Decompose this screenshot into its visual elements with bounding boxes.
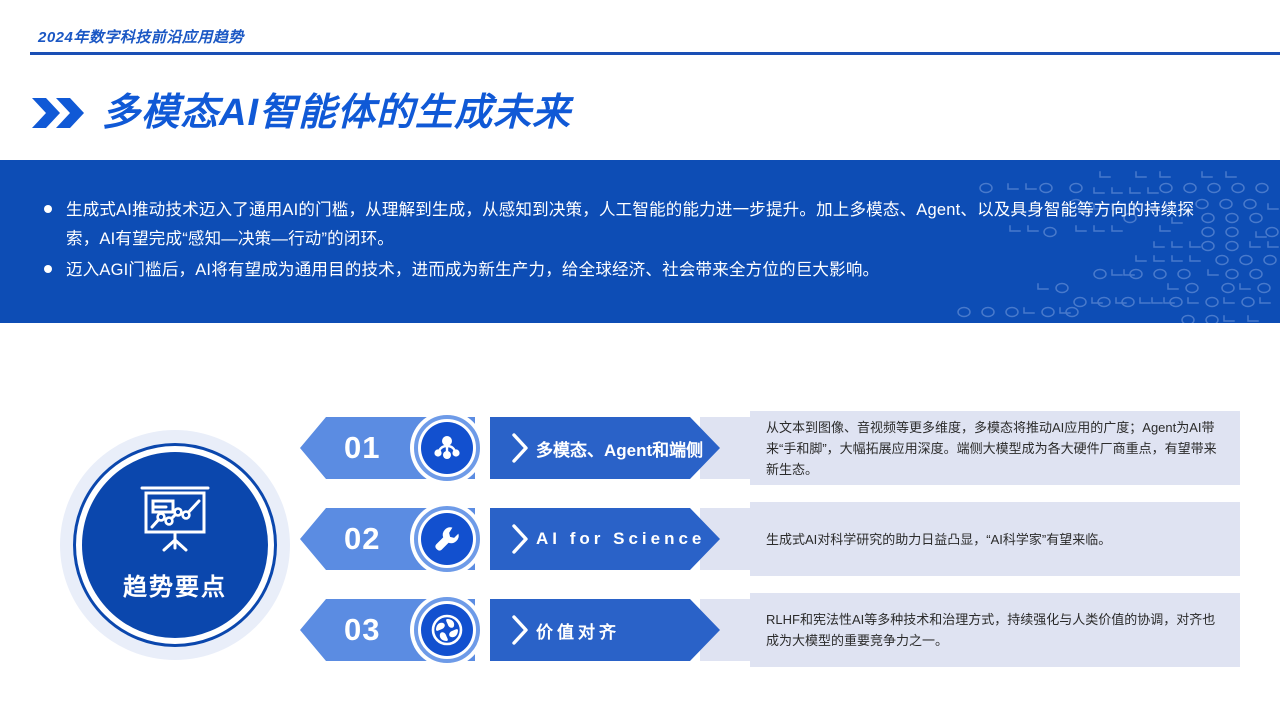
page-title: 多模态AI智能体的生成未来	[102, 94, 571, 132]
row-number: 02	[344, 521, 380, 557]
row-icon-badge[interactable]	[410, 502, 484, 576]
trend-row: 03 价值对齐 RLHF和宪法性AI等多种技术和治理方式，持续强化与人类价值的协…	[300, 593, 1240, 667]
row-number: 01	[344, 430, 380, 466]
banner-bullet-text: 迈入AGI门槛后，AI将有望成为通用目的技术，进而成为新生产力，给全球经济、社会…	[66, 256, 879, 285]
row-description: 从文本到图像、音视频等更多维度，多模态将推动AI应用的广度；Agent为AI带来…	[750, 417, 1240, 480]
trend-row: 02 AI for Science 生成式AI对科学研究的助力日益凸显，“AI科…	[300, 502, 1240, 576]
row-title-chevron[interactable]: 多模态、Agent和端侧	[490, 417, 720, 479]
row-title: 价值对齐	[536, 618, 620, 643]
icon-badge-core	[421, 513, 473, 565]
row-icon-badge[interactable]	[410, 411, 484, 485]
network-nodes-icon	[431, 432, 463, 464]
row-icon-badge[interactable]	[410, 593, 484, 667]
banner-bullet-text: 生成式AI推动技术迈入了通用AI的门槛，从理解到生成，从感知到决策，人工智能的能…	[66, 196, 1201, 254]
badge-label: 趋势要点	[123, 567, 227, 602]
row-description: RLHF和宪法性AI等多种技术和治理方式，持续强化与人类价值的协调，对齐也成为大…	[750, 609, 1240, 651]
chevron-right-icon	[512, 524, 528, 554]
row-description-panel: 生成式AI对科学研究的助力日益凸显，“AI科学家”有望来临。	[750, 502, 1240, 576]
bullet-icon	[44, 265, 52, 273]
page-title-row: 多模态AI智能体的生成未来	[30, 85, 571, 140]
badge-core: 趋势要点	[82, 452, 268, 638]
icon-badge-core	[421, 604, 473, 656]
presentation-chart-icon	[136, 482, 214, 559]
icon-badge-core	[421, 422, 473, 474]
row-description-panel: RLHF和宪法性AI等多种技术和治理方式，持续强化与人类价值的协调，对齐也成为大…	[750, 593, 1240, 667]
trend-row: 01 多模态、Agent和端侧	[300, 411, 1240, 485]
row-description-panel: 从文本到图像、音视频等更多维度，多模态将推动AI应用的广度；Agent为AI带来…	[750, 411, 1240, 485]
list-item: 迈入AGI门槛后，AI将有望成为通用目的技术，进而成为新生产力，给全球经济、社会…	[44, 256, 1244, 285]
header-divider	[30, 52, 1280, 55]
row-title: AI for Science	[536, 529, 705, 549]
chevron-right-icon	[512, 433, 528, 463]
double-chevron-right-icon	[30, 95, 86, 131]
row-number: 03	[344, 612, 380, 648]
row-title-chevron[interactable]: AI for Science	[490, 508, 720, 570]
row-description: 生成式AI对科学研究的助力日益凸显，“AI科学家”有望来临。	[750, 529, 1125, 550]
chevron-right-icon	[512, 615, 528, 645]
trend-points-badge: 趋势要点	[60, 430, 290, 660]
pinwheel-swirl-icon	[429, 612, 465, 648]
banner-bullet-list: 生成式AI推动技术迈入了通用AI的门槛，从理解到生成，从感知到决策，人工智能的能…	[44, 196, 1244, 287]
page-header: 2024年数字科技前沿应用趋势	[0, 0, 1280, 60]
wrench-icon	[431, 523, 463, 555]
row-title: 多模态、Agent和端侧	[536, 436, 703, 461]
list-item: 生成式AI推动技术迈入了通用AI的门槛，从理解到生成，从感知到决策，人工智能的能…	[44, 196, 1244, 254]
summary-banner: 生成式AI推动技术迈入了通用AI的门槛，从理解到生成，从感知到决策，人工智能的能…	[0, 160, 1280, 323]
bullet-icon	[44, 205, 52, 213]
header-kicker: 2024年数字科技前沿应用趋势	[38, 26, 244, 47]
row-title-chevron[interactable]: 价值对齐	[490, 599, 720, 661]
